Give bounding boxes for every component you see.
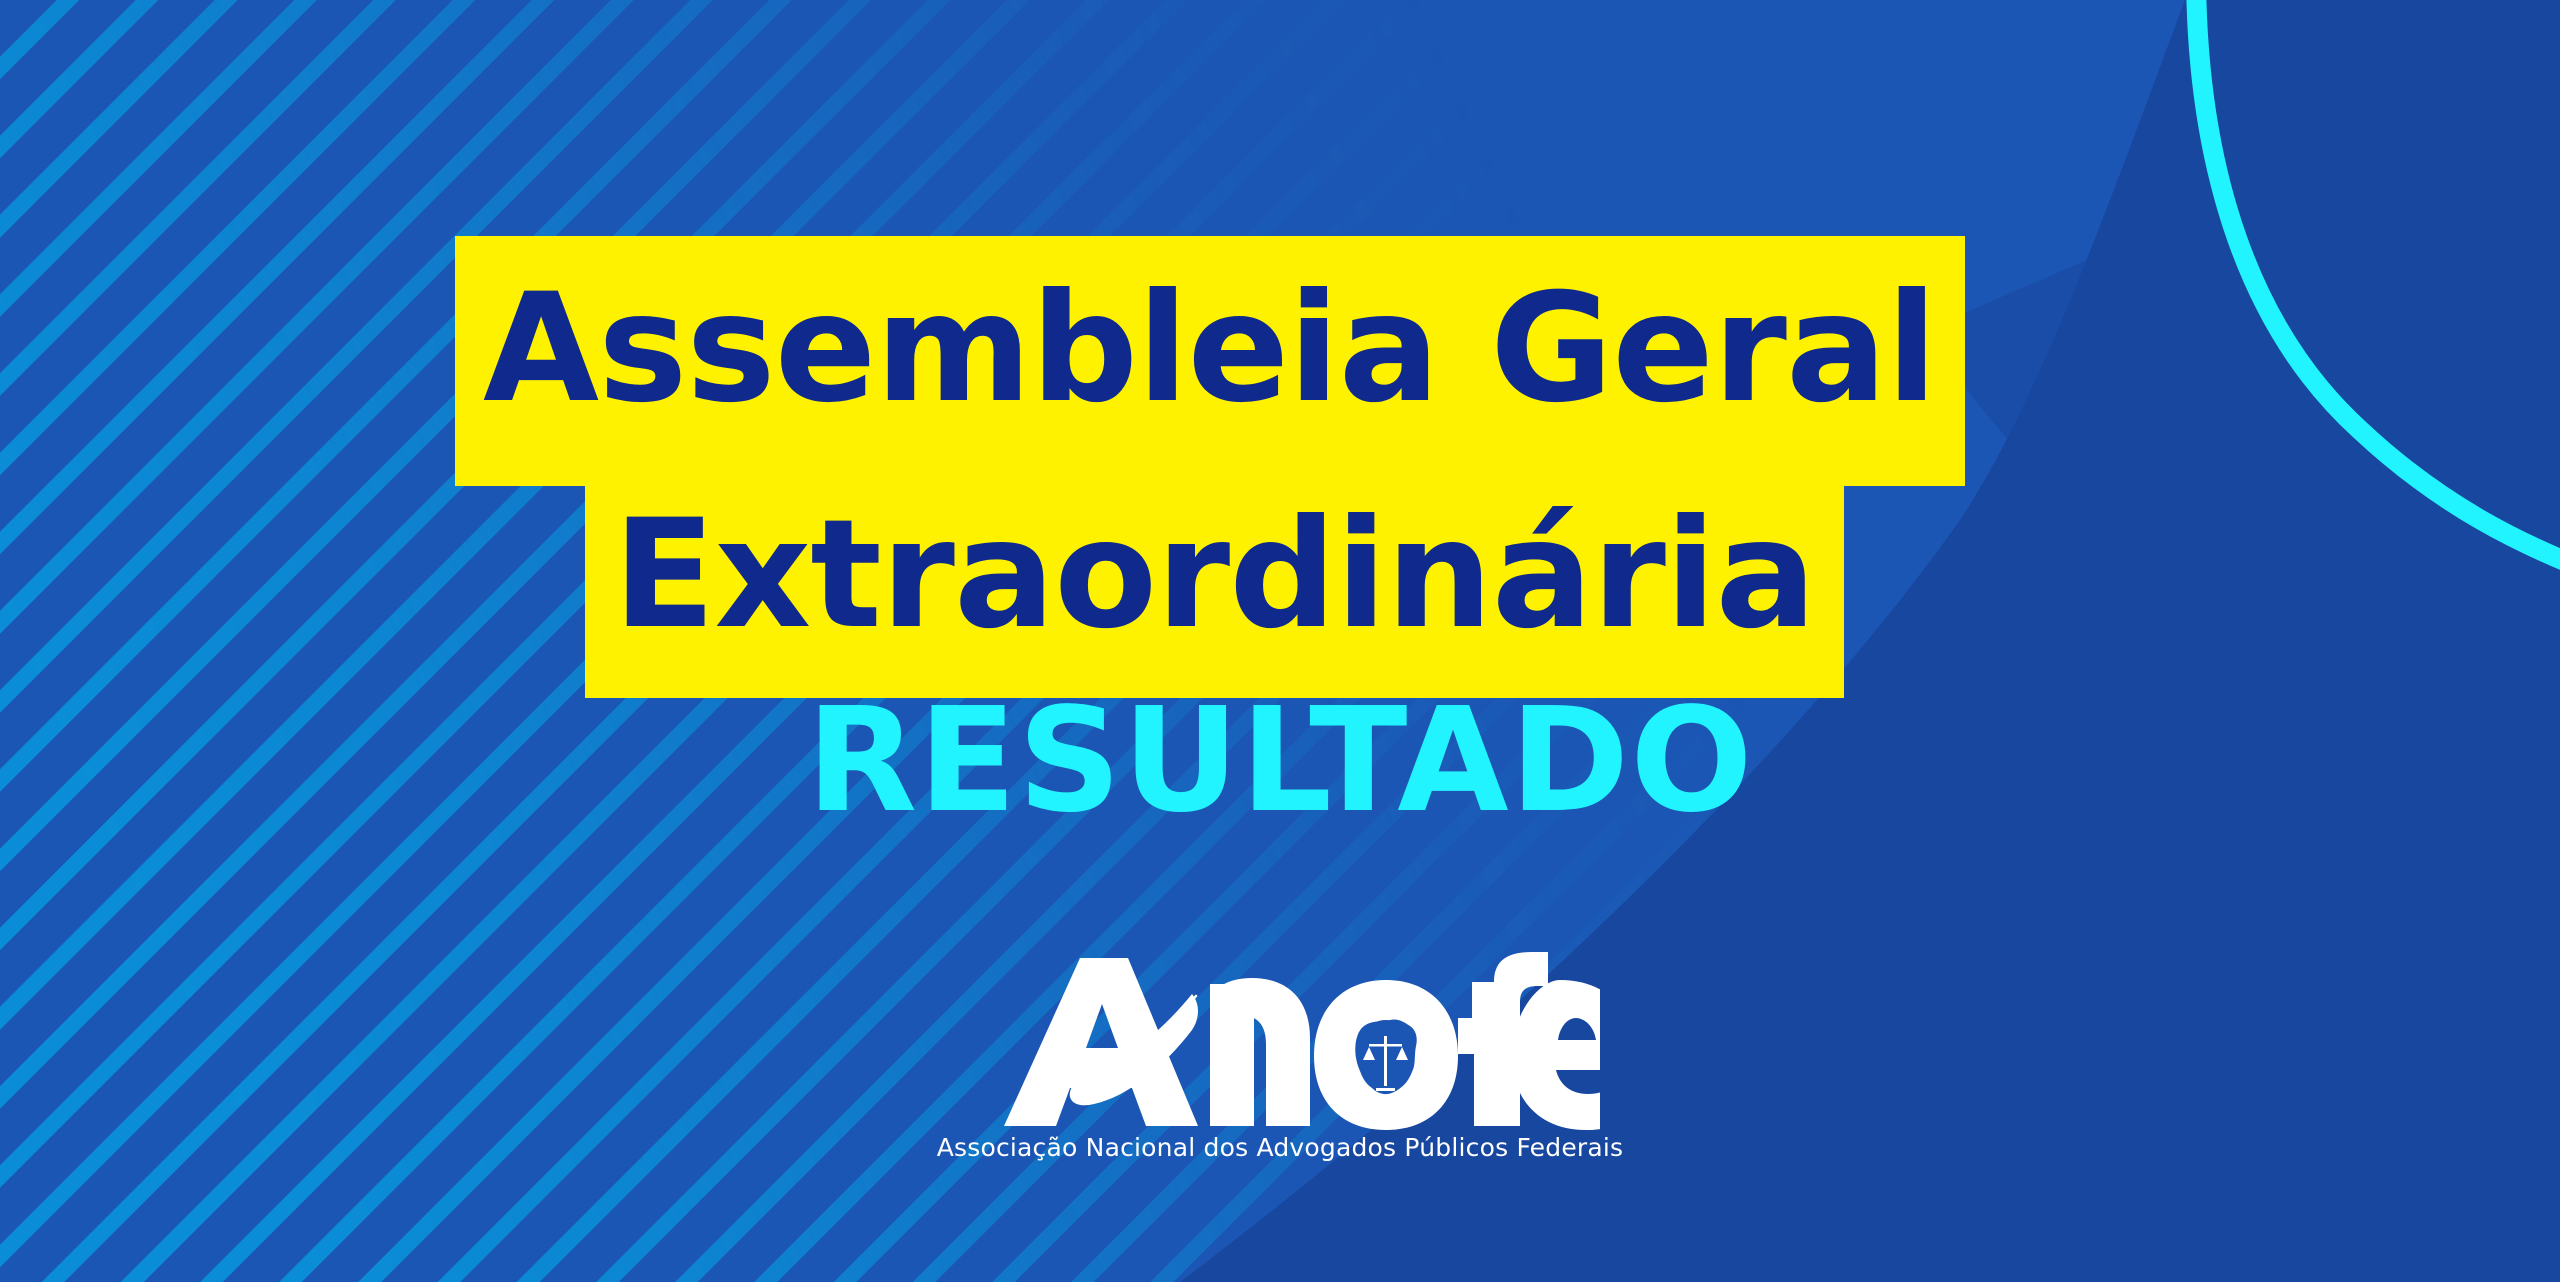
letter-n-stem xyxy=(1210,984,1254,1126)
headline-line-1-row: Assembleia Geral xyxy=(0,236,2560,486)
anafe-tagline: Associação Nacional dos Advogados Públic… xyxy=(0,1134,2560,1162)
anafe-logo: Associação Nacional dos Advogados Públic… xyxy=(0,952,2560,1162)
anafe-wordmark-icon xyxy=(960,952,1600,1132)
letter-e xyxy=(1512,980,1600,1130)
headline-line-2: Extraordinária xyxy=(585,482,1844,698)
headline-line-2-row: Extraordinária xyxy=(0,482,2560,698)
subtitle-resultado: RESULTADO xyxy=(0,688,2560,832)
poster-canvas: Assembleia Geral Extraordinária RESULTAD… xyxy=(0,0,2560,1282)
headline-line-1: Assembleia Geral xyxy=(455,236,1965,486)
headline-block: Assembleia Geral Extraordinária xyxy=(0,236,2560,698)
